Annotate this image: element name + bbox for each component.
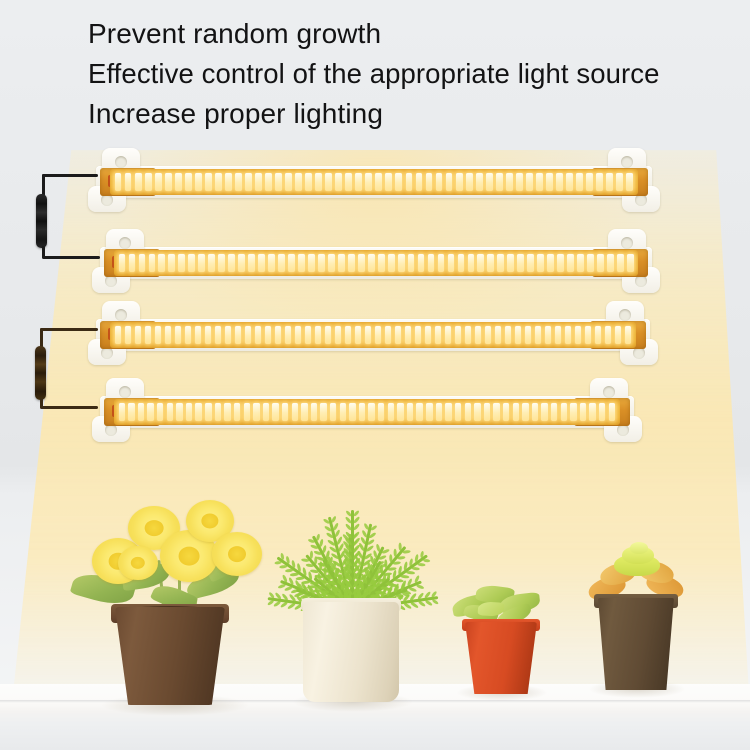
led-segment: [555, 326, 562, 344]
led-segment: [448, 254, 455, 272]
led-segment: [258, 254, 265, 272]
fern-pinna: [291, 572, 300, 576]
led-segment: [537, 254, 544, 272]
led-segment: [215, 403, 221, 421]
led-segment: [245, 173, 252, 191]
led-array: [117, 403, 617, 421]
led-segment: [616, 173, 623, 191]
led-segment: [295, 173, 302, 191]
led-segment: [388, 403, 394, 421]
led-segment: [168, 254, 175, 272]
led-segment: [244, 403, 250, 421]
led-segment: [135, 173, 142, 191]
led-segment: [487, 254, 494, 272]
led-segment: [330, 403, 336, 421]
pot-brown-round: [115, 607, 225, 705]
led-segment: [225, 173, 232, 191]
led-segment: [378, 403, 384, 421]
led-segment: [263, 403, 269, 421]
led-segment: [275, 326, 282, 344]
led-segment: [505, 326, 512, 344]
led-bar-lens: [114, 250, 638, 276]
led-segment: [228, 254, 235, 272]
led-bar-2: [62, 233, 690, 291]
led-segment: [355, 326, 362, 344]
led-segment: [365, 173, 372, 191]
led-segment: [328, 254, 335, 272]
led-segment: [445, 403, 451, 421]
fern-frond: [351, 510, 355, 610]
led-segment: [119, 254, 126, 272]
led-segment: [155, 173, 162, 191]
led-segment: [325, 326, 332, 344]
led-segment: [305, 326, 312, 344]
led-segment: [446, 173, 453, 191]
led-segment: [547, 254, 554, 272]
led-segment: [129, 254, 136, 272]
led-segment: [298, 254, 305, 272]
led-segment: [265, 173, 272, 191]
led-segment: [585, 326, 592, 344]
led-segment: [208, 254, 215, 272]
led-segment: [388, 254, 395, 272]
led-bar-lens: [110, 322, 636, 348]
led-bar-1: [58, 152, 690, 210]
led-segment: [325, 173, 332, 191]
led-segment: [155, 326, 162, 344]
led-segment: [515, 326, 522, 344]
led-segment: [234, 403, 240, 421]
led-segment: [532, 403, 538, 421]
led-segment: [436, 403, 442, 421]
led-segment: [305, 173, 312, 191]
led-segment: [215, 173, 222, 191]
fern-pinna: [285, 568, 294, 572]
led-segment: [426, 173, 433, 191]
led-segment: [205, 403, 211, 421]
led-segment: [149, 254, 156, 272]
led-segment: [580, 403, 586, 421]
headline-line-2: Effective control of the appropriate lig…: [88, 54, 728, 94]
led-segment: [205, 326, 212, 344]
product-image: Prevent random growth Effective control …: [0, 0, 750, 750]
led-segment: [278, 254, 285, 272]
led-segment: [139, 254, 146, 272]
led-segment: [576, 173, 583, 191]
led-segment: [308, 254, 315, 272]
led-segment: [385, 173, 392, 191]
led-array: [117, 254, 635, 272]
led-segment: [318, 254, 325, 272]
led-segment: [607, 254, 614, 272]
led-segment: [615, 326, 622, 344]
led-segment: [526, 173, 533, 191]
pot-brown-square: [598, 598, 674, 690]
dc-connector-left-1: [36, 194, 47, 248]
led-segment: [375, 326, 382, 344]
fern-pinna: [274, 560, 282, 564]
led-segment: [398, 254, 405, 272]
led-segment: [195, 403, 201, 421]
led-segment: [476, 173, 483, 191]
led-segment: [513, 403, 519, 421]
led-segment: [268, 254, 275, 272]
led-segment: [606, 173, 613, 191]
fern-pinna: [386, 582, 394, 585]
led-bar-lens: [110, 169, 638, 195]
led-segment: [395, 173, 402, 191]
led-segment: [235, 326, 242, 344]
led-segment: [311, 403, 317, 421]
led-array: [113, 326, 633, 344]
led-segment: [525, 326, 532, 344]
led-segment: [238, 254, 245, 272]
led-segment: [349, 403, 355, 421]
led-segment: [125, 173, 132, 191]
led-segment: [167, 403, 173, 421]
led-segment: [397, 403, 403, 421]
led-segment: [561, 403, 567, 421]
led-segment: [188, 254, 195, 272]
led-segment: [195, 326, 202, 344]
led-segment: [157, 403, 163, 421]
headline-line-1: Prevent random growth: [88, 14, 728, 54]
led-segment: [577, 254, 584, 272]
led-segment: [265, 326, 272, 344]
fern-pinna: [411, 567, 419, 571]
led-segment: [138, 403, 144, 421]
led-segment: [235, 173, 242, 191]
led-segment: [426, 403, 432, 421]
led-segment: [340, 403, 346, 421]
led-segment: [225, 326, 232, 344]
led-segment: [455, 403, 461, 421]
fern-pinna: [380, 586, 389, 589]
pot-cream-cylinder: [303, 602, 399, 702]
led-segment: [486, 173, 493, 191]
headline-block: Prevent random growth Effective control …: [88, 14, 728, 134]
led-segment: [408, 254, 415, 272]
led-segment: [375, 173, 382, 191]
led-segment: [586, 173, 593, 191]
led-segment: [625, 326, 632, 344]
led-segment: [295, 326, 302, 344]
led-segment: [477, 254, 484, 272]
led-segment: [406, 173, 413, 191]
led-segment: [285, 173, 292, 191]
led-segment: [245, 326, 252, 344]
led-segment: [335, 173, 342, 191]
led-segment: [185, 173, 192, 191]
led-segment: [517, 254, 524, 272]
led-segment: [609, 403, 615, 421]
led-segment: [255, 173, 262, 191]
led-segment: [255, 326, 262, 344]
led-segment: [551, 403, 557, 421]
fern-pinna: [423, 559, 431, 563]
led-segment: [485, 326, 492, 344]
led-segment: [215, 326, 222, 344]
led-segment: [484, 403, 490, 421]
led-segment: [416, 403, 422, 421]
led-segment: [115, 326, 122, 344]
led-segment: [436, 173, 443, 191]
led-segment: [474, 403, 480, 421]
led-segment: [456, 173, 463, 191]
led-segment: [248, 254, 255, 272]
led-segment: [556, 173, 563, 191]
led-segment: [495, 326, 502, 344]
led-segment: [415, 326, 422, 344]
led-segment: [455, 326, 462, 344]
led-array: [113, 173, 635, 191]
led-segment: [428, 254, 435, 272]
fern-pinna: [392, 561, 401, 565]
led-segment: [566, 173, 573, 191]
led-segment: [165, 326, 172, 344]
succulent-leaf: [630, 542, 648, 554]
led-segment: [595, 326, 602, 344]
led-segment: [176, 403, 182, 421]
led-segment: [359, 403, 365, 421]
led-segment: [335, 326, 342, 344]
led-segment: [522, 403, 528, 421]
led-segment: [338, 254, 345, 272]
led-segment: [465, 403, 471, 421]
led-segment: [345, 173, 352, 191]
led-segment: [128, 403, 134, 421]
led-segment: [145, 173, 152, 191]
led-segment: [575, 326, 582, 344]
led-segment: [597, 254, 604, 272]
fern-pinna: [397, 555, 405, 559]
headline-line-3: Increase proper lighting: [88, 94, 728, 134]
led-segment: [378, 254, 385, 272]
led-segment: [466, 173, 473, 191]
led-segment: [425, 326, 432, 344]
fern-pinna: [417, 563, 425, 567]
led-segment: [627, 254, 634, 272]
led-segment: [438, 254, 445, 272]
led-segment: [527, 254, 534, 272]
led-segment: [445, 326, 452, 344]
fern-pinna: [400, 575, 409, 579]
led-segment: [165, 173, 172, 191]
led-segment: [545, 326, 552, 344]
led-bar-4: [62, 382, 672, 440]
led-segment: [315, 173, 322, 191]
led-segment: [589, 403, 595, 421]
led-segment: [185, 326, 192, 344]
led-segment: [541, 403, 547, 421]
led-segment: [175, 326, 182, 344]
led-segment: [587, 254, 594, 272]
led-segment: [546, 173, 553, 191]
fern-pinna: [375, 590, 384, 594]
led-segment: [605, 326, 612, 344]
flower: [118, 546, 158, 580]
led-segment: [272, 403, 278, 421]
led-segment: [617, 254, 624, 272]
led-segment: [567, 254, 574, 272]
led-segment: [224, 403, 230, 421]
led-segment: [506, 173, 513, 191]
fern-pinna: [280, 564, 288, 568]
led-segment: [292, 403, 298, 421]
led-segment: [345, 326, 352, 344]
led-segment: [365, 326, 372, 344]
led-segment: [596, 173, 603, 191]
led-segment: [115, 173, 122, 191]
led-segment: [468, 254, 475, 272]
led-segment: [218, 254, 225, 272]
led-segment: [147, 403, 153, 421]
led-segment: [535, 326, 542, 344]
flower: [212, 532, 262, 576]
led-segment: [195, 173, 202, 191]
led-segment: [285, 326, 292, 344]
led-segment: [496, 173, 503, 191]
led-segment: [493, 403, 499, 421]
led-bar-lens: [114, 399, 620, 425]
led-segment: [536, 173, 543, 191]
led-segment: [503, 403, 509, 421]
led-segment: [358, 254, 365, 272]
led-segment: [557, 254, 564, 272]
led-segment: [135, 326, 142, 344]
led-segment: [570, 403, 576, 421]
led-segment: [599, 403, 605, 421]
led-segment: [407, 403, 413, 421]
dc-connector-left-2: [35, 346, 46, 400]
led-segment: [516, 173, 523, 191]
led-segment: [565, 326, 572, 344]
led-segment: [125, 326, 132, 344]
led-segment: [475, 326, 482, 344]
led-segment: [158, 254, 165, 272]
led-segment: [626, 173, 633, 191]
led-segment: [253, 403, 259, 421]
led-segment: [465, 326, 472, 344]
pot-red-round: [465, 622, 537, 694]
led-segment: [385, 326, 392, 344]
led-segment: [395, 326, 402, 344]
led-segment: [368, 403, 374, 421]
fern-pinna: [415, 584, 423, 590]
fern-pinna: [405, 571, 414, 575]
led-segment: [275, 173, 282, 191]
led-segment: [348, 254, 355, 272]
led-segment: [301, 403, 307, 421]
led-segment: [175, 173, 182, 191]
led-segment: [355, 173, 362, 191]
led-segment: [458, 254, 465, 272]
led-segment: [497, 254, 504, 272]
led-segment: [405, 326, 412, 344]
led-segment: [119, 403, 125, 421]
fern-pinna: [402, 550, 410, 554]
led-segment: [435, 326, 442, 344]
led-segment: [178, 254, 185, 272]
led-segment: [320, 403, 326, 421]
led-segment: [282, 403, 288, 421]
led-segment: [416, 173, 423, 191]
led-segment: [507, 254, 514, 272]
led-segment: [368, 254, 375, 272]
led-segment: [198, 254, 205, 272]
led-segment: [288, 254, 295, 272]
led-segment: [315, 326, 322, 344]
led-segment: [418, 254, 425, 272]
led-bar-3: [58, 305, 688, 363]
led-segment: [186, 403, 192, 421]
led-segment: [205, 173, 212, 191]
fern-pinna: [310, 552, 313, 560]
led-segment: [145, 326, 152, 344]
fern-pinna: [296, 576, 305, 580]
